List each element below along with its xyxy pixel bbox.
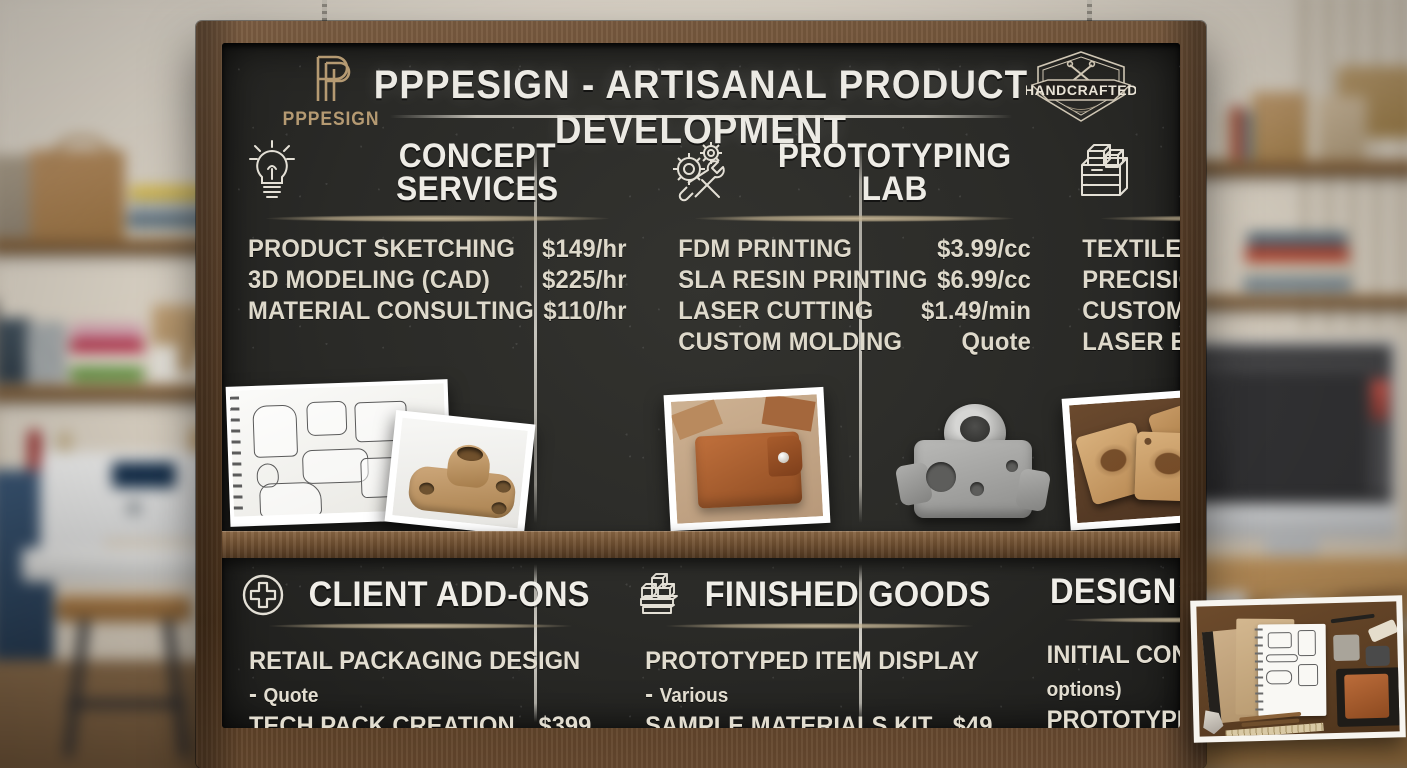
3d-printed-flange-photo	[385, 410, 536, 536]
sketch-shape	[1298, 664, 1318, 686]
section-row: PROTOTYPING PACKAGE $1599	[1047, 704, 1180, 728]
row-name: INITIAL CONCEPTS	[1047, 641, 1180, 669]
price-row: LASER CUTTING $1.49/min	[678, 296, 1031, 327]
item-name: CUSTOM MOLDING	[678, 327, 902, 358]
category-title: SMALL BATCH PRODUCTION	[1164, 140, 1180, 205]
sketch-shape	[1268, 632, 1292, 648]
item-name: LASER ENGRAVING	[1082, 327, 1180, 358]
leather-swatch	[1344, 674, 1389, 719]
item-price: $110/hr	[534, 296, 627, 327]
board-header: PPPESIGN PPPESIGN - ARTISANAL PRODUCT DE…	[222, 43, 1180, 127]
row-label: INITIAL CONCEPTS (3 options)	[1047, 639, 1180, 704]
section-client-add-ons: CLIENT ADD-ONS RETAIL PACKAGING DESIGN -…	[222, 558, 618, 728]
photo-inner	[1196, 601, 1399, 736]
category-title-line1: PROTOTYPING	[759, 140, 1030, 173]
sketch-shape	[252, 404, 298, 458]
section-row: PROTOTYPED ITEM DISPLAY - Various	[645, 645, 992, 710]
chalk-stick	[1367, 619, 1398, 643]
3d-printed-gear-housing-photo	[898, 400, 1048, 525]
photo-inner	[671, 394, 823, 523]
item-name: LASER CUTTING	[678, 296, 873, 327]
category-photos: PPPESIGN PPPESIGN PPPESIGN PPPESIGN PPPE…	[1056, 373, 1180, 533]
chalkboard-frame: PPPESIGN PPPESIGN - ARTISANAL PRODUCT DE…	[196, 21, 1206, 768]
category-title-line1: SMALL BATCH	[1164, 140, 1180, 173]
category-small-batch-production: SMALL BATCH PRODUCTION TEXTILE DESIGN & …	[1056, 133, 1180, 531]
item-name: 3D MODELING (CAD)	[248, 265, 490, 296]
sketch-bulb	[256, 463, 279, 488]
category-underline	[266, 215, 609, 222]
wallet-snap	[777, 452, 789, 464]
price-row: MATERIAL CONSULTING $110/hr	[248, 296, 627, 327]
category-photos	[653, 373, 1056, 533]
section-underline	[1065, 617, 1180, 623]
category-underline	[695, 215, 1014, 222]
chalkboard-surface: PPPESIGN PPPESIGN - ARTISANAL PRODUCT DE…	[222, 43, 1180, 728]
section-items: INITIAL CONCEPTS (3 options) $999 PROTOT…	[1038, 639, 1180, 728]
housing-hole	[926, 462, 956, 492]
item-name: CUSTOM ASSEMBLY	[1082, 296, 1180, 327]
wooden-crossbar	[222, 531, 1180, 558]
pen	[1331, 614, 1375, 624]
sketch-shape	[1266, 654, 1298, 662]
price-row: PRECISION CNC MILLING $199/hr	[1082, 265, 1180, 296]
section-finished-goods: FINISHED GOODS PROTOTYPED ITEM DISPLAY -…	[618, 558, 1020, 728]
handcrafted-shield-icon: HANDCRAFTED	[1026, 49, 1136, 125]
item-price: $1.49/min	[911, 296, 1030, 327]
plus-circle-icon	[240, 572, 286, 618]
price-row: 3D MODELING (CAD) $225/hr	[248, 265, 627, 296]
title-underline	[390, 115, 1012, 118]
engraved-brandmark	[1144, 444, 1180, 484]
category-title-line2: LAB	[759, 173, 1030, 206]
gears-wrench-icon	[669, 139, 737, 207]
category-photos	[222, 373, 653, 533]
price-list: PRODUCT SKETCHING $149/hr 3D MODELING (C…	[238, 234, 637, 327]
stacked-boxes-icon	[636, 572, 682, 618]
section-header: FINISHED GOODS	[636, 572, 1002, 618]
photo-inner	[392, 418, 528, 529]
sketch-shape	[306, 401, 347, 436]
category-header: SMALL BATCH PRODUCTION	[1072, 139, 1180, 207]
section-title: DESIGN PACKAGES	[1050, 572, 1180, 612]
category-concept-services: CONCEPT SERVICES PRODUCT SKETCHING $149/…	[222, 133, 653, 531]
wood-tag	[1134, 431, 1180, 501]
category-title-line2: PRODUCTION	[1164, 173, 1180, 206]
tag-hole	[1144, 438, 1151, 445]
photo-inner	[1069, 395, 1180, 523]
sketch-shape	[1266, 670, 1292, 684]
price-list: FDM PRINTING $3.99/cc SLA RESIN PRINTING…	[669, 234, 1040, 358]
price-row: CUSTOM MOLDING Quote	[678, 327, 1031, 358]
row-label: RETAIL PACKAGING DESIGN - Quote	[249, 645, 591, 710]
item-name: MATERIAL CONSULTING	[248, 296, 534, 327]
sketch-page	[1258, 624, 1327, 717]
item-price: $6.99/cc	[927, 265, 1030, 296]
price-row: FDM PRINTING $3.99/cc	[678, 234, 1031, 265]
row-name: SAMPLE MATERIALS KIT	[645, 710, 932, 728]
row-inline-note: Various	[660, 685, 729, 707]
gear-bore	[960, 416, 990, 442]
section-row: SAMPLE MATERIALS KIT $49	[645, 710, 992, 728]
housing-hole	[970, 482, 984, 496]
lightbulb-icon	[238, 139, 306, 207]
category-title: PROTOTYPING LAB	[759, 140, 1030, 205]
section-header: DESIGN PACKAGES	[1038, 572, 1180, 612]
item-price: $225/hr	[533, 265, 627, 296]
hardware-part	[1365, 646, 1390, 667]
section-title: FINISHED GOODS	[705, 575, 991, 615]
design-kit-flatlay-photo	[1190, 595, 1406, 743]
handcrafted-badge-text: HANDCRAFTED	[1026, 82, 1136, 98]
section-underline	[269, 623, 572, 629]
row-label: PROTOTYPED ITEM DISPLAY - Various	[645, 645, 992, 710]
item-name: PRECISION CNC MILLING	[1082, 265, 1180, 296]
housing-arm	[1015, 468, 1051, 513]
category-header: PROTOTYPING LAB	[669, 139, 1040, 207]
wooden-ruler	[1225, 723, 1323, 737]
price-list: TEXTILE DESIGN & PRINT Quote PRECISION C…	[1072, 234, 1180, 358]
price-row: SLA RESIN PRINTING $6.99/cc	[678, 265, 1031, 296]
section-header: CLIENT ADD-ONS	[240, 572, 600, 618]
item-price: $3.99/cc	[927, 234, 1030, 265]
engraved-brandmark	[1086, 436, 1141, 486]
item-name: SLA RESIN PRINTING	[678, 265, 927, 296]
row-price: $399	[538, 710, 591, 728]
section-items: PROTOTYPED ITEM DISPLAY - Various SAMPLE…	[636, 645, 1002, 728]
top-category-grid: CONCEPT SERVICES PRODUCT SKETCHING $149/…	[222, 133, 1180, 531]
handcrafted-badge: HANDCRAFTED	[1026, 49, 1136, 125]
row-name: PROTOTYPING PACKAGE	[1047, 704, 1180, 728]
sketch-shape	[302, 448, 369, 484]
housing-hole	[1006, 460, 1018, 472]
item-price: Quote	[952, 327, 1031, 358]
category-title: CONCEPT SERVICES	[329, 140, 625, 205]
section-row: TECH PACK CREATION $399	[249, 710, 591, 728]
price-row: LASER ENGRAVING $0.49/min	[1082, 327, 1180, 358]
category-title-line2: SERVICES	[329, 173, 625, 206]
section-row: RETAIL PACKAGING DESIGN - Quote	[249, 645, 591, 710]
section-underline	[666, 623, 973, 629]
item-name: TEXTILE DESIGN & PRINT	[1082, 234, 1180, 265]
row-name: TECH PACK CREATION	[249, 710, 515, 728]
item-name: PRODUCT SKETCHING	[248, 234, 515, 265]
section-design-packages: DESIGN PACKAGES INITIAL CONCEPTS (3 opti…	[1020, 558, 1180, 728]
category-prototyping-lab: PROTOTYPING LAB FDM PRINTING $3.99/cc SL…	[653, 133, 1056, 531]
category-title-line1: CONCEPT	[329, 140, 625, 173]
metal-block	[1333, 634, 1360, 661]
price-row: PRODUCT SKETCHING $149/hr	[248, 234, 627, 265]
item-name: FDM PRINTING	[678, 234, 852, 265]
sketch-shape	[1298, 630, 1316, 656]
section-items: RETAIL PACKAGING DESIGN - Quote TECH PAC…	[240, 645, 600, 728]
price-row: CUSTOM ASSEMBLY Quote	[1082, 296, 1180, 327]
section-row: INITIAL CONCEPTS (3 options) $999	[1047, 639, 1180, 704]
bottom-section-grid: CLIENT ADD-ONS RETAIL PACKAGING DESIGN -…	[222, 558, 1180, 728]
row-price: $49	[953, 710, 993, 728]
item-price: $149/hr	[533, 234, 627, 265]
price-row: TEXTILE DESIGN & PRINT Quote	[1082, 234, 1180, 265]
category-underline	[1101, 215, 1180, 222]
row-inline-note: Quote	[264, 685, 319, 707]
leather-wallet-photo	[663, 387, 830, 531]
laser-engraved-wood-tags-photo	[1062, 387, 1180, 530]
section-title: CLIENT ADD-ONS	[309, 575, 590, 615]
category-header: CONCEPT SERVICES	[238, 139, 637, 207]
spiral-binding	[1255, 628, 1264, 712]
crate-boxes-icon	[1072, 139, 1140, 207]
